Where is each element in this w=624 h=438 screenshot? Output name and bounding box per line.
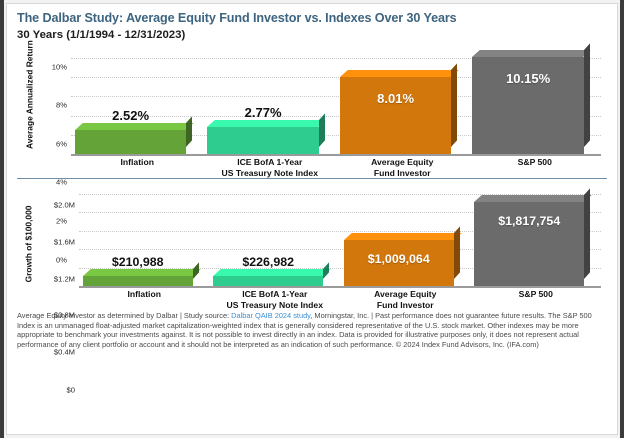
bar-slot: $1,009,064 bbox=[340, 184, 471, 286]
chart2-y-axis-title-text: Growth of $100,000 bbox=[23, 206, 33, 283]
bar-2[interactable]: 2.77% bbox=[207, 127, 318, 154]
chart1-y-axis-title: Average Annualized Return bbox=[25, 79, 35, 149]
category-label: S&P 500 bbox=[471, 289, 602, 310]
category-label: S&P 500 bbox=[469, 157, 602, 178]
chart-growth-of-100000: Growth of $100,000 $0$0.4M$0.8M$1.2M$1.6… bbox=[17, 184, 607, 304]
bar-2[interactable]: $226,982 bbox=[213, 276, 323, 286]
bar-front-face bbox=[75, 130, 186, 154]
y-axis-tick-label: $1.2M bbox=[54, 274, 75, 283]
axis-baseline: 0% bbox=[71, 154, 601, 156]
screenshot-root: The Dalbar Study: Average Equity Fund In… bbox=[0, 0, 624, 438]
bar-slot: 10.15% bbox=[469, 50, 602, 154]
chart2-bars: $210,988$226,982$1,009,064$1,817,754 bbox=[79, 184, 601, 286]
bar-top-face bbox=[472, 50, 591, 57]
bar-top-face bbox=[474, 195, 591, 202]
y-axis-tick-label: $0 bbox=[67, 386, 75, 395]
bar-value-label: 10.15% bbox=[472, 71, 583, 86]
bar-4[interactable]: 10.15% bbox=[472, 57, 583, 154]
bar-slot: 8.01% bbox=[336, 50, 469, 154]
bar-side-face bbox=[451, 63, 457, 147]
bar-side-face bbox=[454, 226, 460, 279]
bar-top-face bbox=[344, 233, 461, 240]
chart1-y-axis-title-line1: Average Annualized Return bbox=[24, 40, 34, 149]
category-label: Inflation bbox=[71, 157, 204, 178]
bar-1[interactable]: $210,988 bbox=[83, 276, 193, 286]
category-label: Average Equity Fund Investor bbox=[340, 289, 471, 310]
bar-value-label: 8.01% bbox=[340, 91, 451, 106]
left-edge-strip bbox=[0, 0, 4, 438]
bar-top-face bbox=[75, 123, 194, 130]
bar-value-label: $1,009,064 bbox=[344, 252, 454, 266]
bar-front-face bbox=[207, 127, 318, 154]
bar-side-face bbox=[584, 189, 590, 279]
y-axis-tick-label: $1.6M bbox=[54, 237, 75, 246]
bar-3[interactable]: 8.01% bbox=[340, 77, 451, 154]
chart2-category-labels: InflationICE BofA 1-Year US Treasury Not… bbox=[79, 289, 601, 310]
category-label: ICE BofA 1-Year US Treasury Note Index bbox=[204, 157, 337, 178]
dalbar-study-link[interactable]: Dalbar QAIB 2024 study bbox=[231, 311, 310, 320]
axis-baseline: $0 bbox=[79, 286, 601, 288]
bar-top-face bbox=[83, 269, 200, 276]
bar-top-face bbox=[207, 120, 326, 127]
bar-4[interactable]: $1,817,754 bbox=[474, 202, 584, 286]
y-axis-tick-label: 10% bbox=[52, 63, 67, 72]
page-title: The Dalbar Study: Average Equity Fund In… bbox=[17, 11, 607, 26]
bar-value-label: $210,988 bbox=[71, 255, 205, 269]
report-card: The Dalbar Study: Average Equity Fund In… bbox=[6, 3, 618, 435]
bar-front-face bbox=[340, 77, 451, 154]
footnote: Average Equity Investor as determined by… bbox=[17, 311, 607, 349]
chart2-y-axis-title: Growth of $100,000 bbox=[24, 192, 34, 296]
y-axis-tick-label: $2.0M bbox=[54, 201, 75, 210]
bar-slot: $226,982 bbox=[210, 184, 341, 286]
category-label: ICE BofA 1-Year US Treasury Note Index bbox=[210, 289, 341, 310]
category-label: Average Equity Fund Investor bbox=[336, 157, 469, 178]
y-axis-tick-label: 6% bbox=[56, 139, 67, 148]
bar-1[interactable]: 2.52% bbox=[75, 130, 186, 154]
chart1-bars: 2.52%2.77%8.01%10.15% bbox=[71, 50, 601, 154]
footnote-part1: Average Equity Investor as determined by… bbox=[17, 311, 231, 320]
y-axis-tick-label: $0.4M bbox=[54, 348, 75, 357]
bar-slot: $210,988 bbox=[79, 184, 210, 286]
bar-side-face bbox=[584, 43, 590, 147]
bar-slot: $1,817,754 bbox=[471, 184, 602, 286]
category-label: Inflation bbox=[79, 289, 210, 310]
chart2-plot-area: $0$0.4M$0.8M$1.2M$1.6M$2.0M $210,988$226… bbox=[79, 184, 601, 304]
bar-front-face bbox=[213, 276, 323, 286]
bar-slot: 2.77% bbox=[204, 50, 337, 154]
right-edge-strip bbox=[620, 0, 624, 438]
page-subtitle: 30 Years (1/1/1994 - 12/31/2023) bbox=[17, 28, 607, 43]
bar-value-label: $1,817,754 bbox=[474, 214, 584, 228]
bar-front-face bbox=[83, 276, 193, 286]
bar-slot: 2.52% bbox=[71, 50, 204, 154]
bar-value-label: 2.77% bbox=[195, 105, 330, 120]
bar-3[interactable]: $1,009,064 bbox=[344, 240, 454, 286]
panel-divider bbox=[17, 178, 607, 179]
chart-annualized-return: Average Annualized Return 0%2%4%6%8%10% … bbox=[17, 50, 607, 178]
bar-top-face bbox=[213, 269, 330, 276]
chart1-category-labels: InflationICE BofA 1-Year US Treasury Not… bbox=[71, 157, 601, 178]
bar-top-face bbox=[340, 70, 459, 77]
bar-value-label: 2.52% bbox=[63, 108, 198, 123]
chart1-plot-area: 0%2%4%6%8%10% 2.52%2.77%8.01%10.15% Infl… bbox=[71, 50, 601, 178]
y-axis-tick-label: $0.8M bbox=[54, 311, 75, 320]
bar-value-label: $226,982 bbox=[201, 255, 335, 269]
